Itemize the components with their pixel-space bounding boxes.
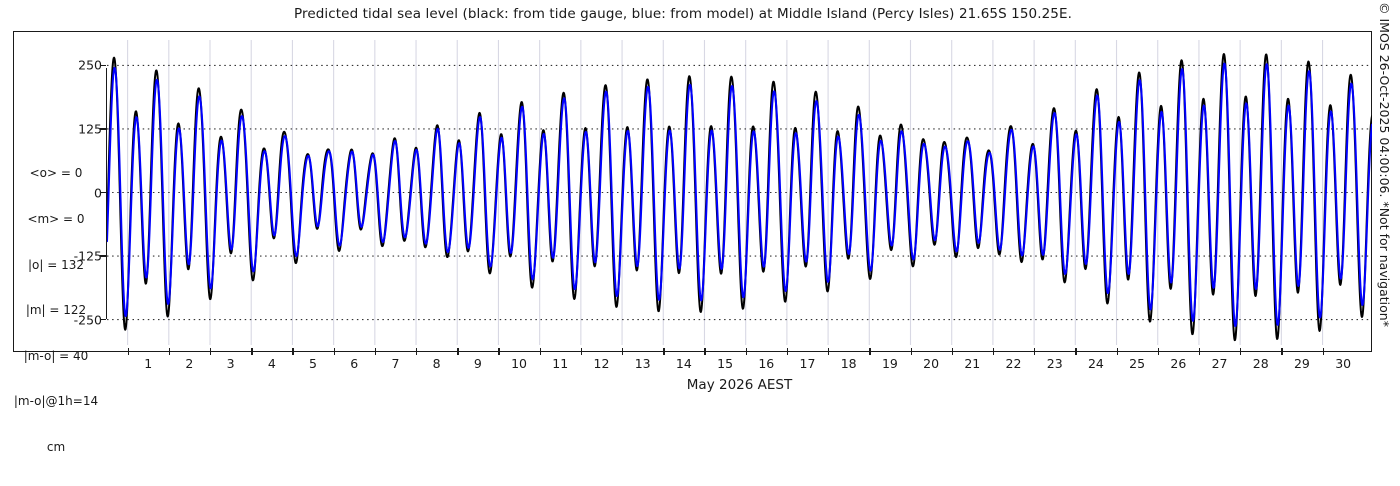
x-tick-label: 5 <box>309 356 317 371</box>
x-tick-label: 7 <box>391 356 399 371</box>
y-tick-label: 250 <box>56 58 102 73</box>
x-axis-tick-labels: 1234567891011121314151617181920212223242… <box>107 356 1372 374</box>
x-tick-mark <box>292 348 293 355</box>
x-tick-label: 25 <box>1129 356 1145 371</box>
x-tick-mark <box>952 348 953 355</box>
stat-abs-difference-1h: |m-o|@1h=14 <box>6 394 106 409</box>
x-tick-mark <box>1281 348 1282 355</box>
y-tick-label: -125 <box>56 249 102 264</box>
x-tick-label: 15 <box>717 356 733 371</box>
x-tick-label: 17 <box>800 356 816 371</box>
x-tick-label: 13 <box>635 356 651 371</box>
x-tick-label: 1 <box>144 356 152 371</box>
x-tick-mark <box>787 348 788 355</box>
x-tick-label: 21 <box>964 356 980 371</box>
stat-units: cm <box>6 440 106 455</box>
x-tick-label: 23 <box>1047 356 1063 371</box>
x-axis-title: May 2026 AEST <box>107 377 1372 393</box>
x-tick-mark <box>911 348 912 355</box>
x-tick-mark <box>869 348 870 355</box>
x-tick-label: 11 <box>552 356 568 371</box>
x-tick-mark <box>416 348 417 355</box>
x-tick-label: 27 <box>1212 356 1228 371</box>
x-tick-mark <box>128 348 129 355</box>
tidal-chart-page: Predicted tidal sea level (black: from t… <box>0 0 1400 400</box>
copyright-credit: © IMOS 26-Oct-2025 04:00:06. *Not for na… <box>1370 2 1392 402</box>
x-tick-label: 20 <box>923 356 939 371</box>
x-tick-label: 30 <box>1335 356 1351 371</box>
x-tick-mark <box>1199 348 1200 355</box>
x-tick-label: 10 <box>511 356 527 371</box>
x-tick-mark <box>457 348 458 355</box>
x-tick-mark <box>334 348 335 355</box>
x-tick-label: 24 <box>1088 356 1104 371</box>
x-tick-mark <box>704 348 705 355</box>
x-tick-mark <box>581 348 582 355</box>
x-tick-mark <box>1117 348 1118 355</box>
x-tick-mark <box>1075 348 1076 355</box>
x-tick-label: 14 <box>676 356 692 371</box>
x-tick-label: 18 <box>841 356 857 371</box>
x-tick-label: 19 <box>882 356 898 371</box>
x-tick-label: 8 <box>433 356 441 371</box>
x-tick-mark <box>663 348 664 355</box>
x-tick-label: 2 <box>185 356 193 371</box>
x-tick-mark <box>993 348 994 355</box>
x-tick-mark <box>828 348 829 355</box>
x-tick-label: 4 <box>268 356 276 371</box>
x-tick-label: 12 <box>594 356 610 371</box>
x-tick-label: 9 <box>474 356 482 371</box>
y-axis-spine <box>106 68 107 319</box>
x-tick-label: 3 <box>227 356 235 371</box>
x-tick-mark <box>1158 348 1159 355</box>
stat-mean-observed: <o> = 0 <box>6 166 106 181</box>
x-tick-label: 28 <box>1253 356 1269 371</box>
x-tick-label: 16 <box>758 356 774 371</box>
x-tick-label: 6 <box>350 356 358 371</box>
page-title: Predicted tidal sea level (black: from t… <box>0 6 1366 22</box>
y-tick-label: 0 <box>56 185 102 200</box>
x-tick-mark <box>622 348 623 355</box>
x-tick-label: 26 <box>1170 356 1186 371</box>
y-tick-label: -250 <box>56 312 102 327</box>
plot-area <box>107 40 1372 345</box>
x-tick-mark <box>251 348 252 355</box>
x-tick-mark <box>375 348 376 355</box>
x-tick-label: 22 <box>1006 356 1022 371</box>
x-tick-mark <box>169 348 170 355</box>
tidal-series-svg <box>107 40 1372 345</box>
x-tick-label: 29 <box>1294 356 1310 371</box>
x-tick-mark <box>746 348 747 355</box>
x-tick-mark <box>1034 348 1035 355</box>
x-tick-mark <box>210 348 211 355</box>
x-tick-mark <box>1240 348 1241 355</box>
x-tick-mark <box>498 348 499 355</box>
x-tick-mark <box>540 348 541 355</box>
stat-abs-difference: |m-o| = 40 <box>6 349 106 364</box>
stat-mean-model: <m> = 0 <box>6 212 106 227</box>
y-tick-label: 125 <box>56 121 102 136</box>
x-tick-mark <box>1323 348 1324 355</box>
